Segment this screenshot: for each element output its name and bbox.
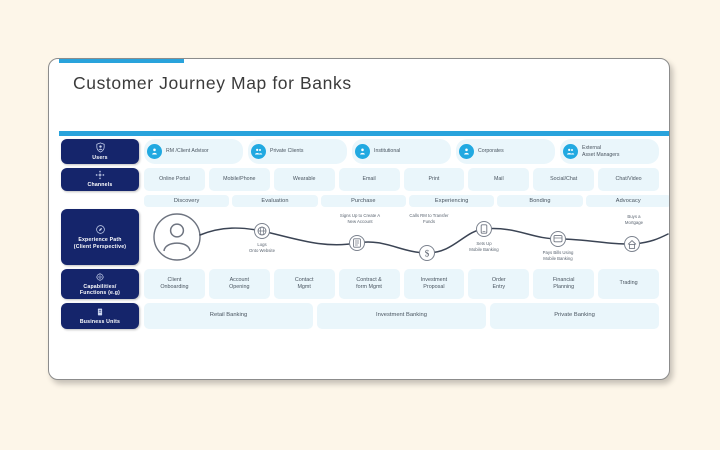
- capability-cell-investment-proposal[interactable]: Investment Proposal: [404, 269, 465, 299]
- customer-avatar-icon: [154, 214, 200, 260]
- header-divider-bar: [59, 131, 670, 136]
- capability-cell-order-entry[interactable]: Order Entry: [468, 269, 529, 299]
- user-chip-rm-client-advisor[interactable]: RM /Client Advisor: [144, 139, 243, 164]
- row-label-business-units[interactable]: Business Units: [61, 303, 139, 329]
- journey-stages-row: Discovery Evaluation Purchase Experienci…: [144, 195, 670, 207]
- channel-cell-online-portal[interactable]: Online Portal: [144, 168, 205, 191]
- journey-curve-svg: $: [144, 209, 670, 265]
- channel-cell-social-chat[interactable]: Social/Chat: [533, 168, 594, 191]
- capabilities-row: Capabilities/ Functions (e.g) Client Onb…: [61, 269, 659, 299]
- capability-cell-trading[interactable]: Trading: [598, 269, 659, 299]
- user-chip-label: Corporates: [478, 148, 504, 155]
- user-chip-external-asset-managers[interactable]: External Asset Managers: [560, 139, 659, 164]
- user-chip-institutional[interactable]: Institutional: [352, 139, 451, 164]
- row-label-capabilities[interactable]: Capabilities/ Functions (e.g): [61, 269, 139, 299]
- users-row: Users RM /Client Advisor: [61, 139, 659, 164]
- title-accent-bar: [59, 59, 184, 63]
- channel-cell-wearable[interactable]: Wearable: [274, 168, 335, 191]
- touchpoint-node-sets-up-mobile-banking: [477, 222, 492, 237]
- channel-cell-mail[interactable]: Mail: [468, 168, 529, 191]
- stage-discovery[interactable]: Discovery: [144, 195, 229, 207]
- people-icon: [251, 144, 266, 159]
- person-icon: [459, 144, 474, 159]
- user-chip-label: External Asset Managers: [582, 145, 619, 159]
- business-unit-cell-private-banking[interactable]: Private Banking: [490, 303, 659, 329]
- capability-cell-client-onboarding[interactable]: Client Onboarding: [144, 269, 205, 299]
- capability-cell-contact-mgmt[interactable]: Contact Mgmt: [274, 269, 335, 299]
- row-label-experience-path-text: Experience Path (Client Perspective): [74, 237, 126, 250]
- business-unit-cell-investment-banking[interactable]: Investment Banking: [317, 303, 486, 329]
- user-chip-corporates[interactable]: Corporates: [456, 139, 555, 164]
- channels-row: Channels Online Portal Mobile/Phone Wear…: [61, 168, 659, 191]
- gear-icon: [95, 272, 105, 282]
- user-chip-label: Institutional: [374, 148, 400, 155]
- touchpoint-node-signs-up-new-account: [350, 236, 365, 251]
- network-icon: [95, 170, 105, 180]
- row-label-channels-text: Channels: [88, 182, 113, 189]
- compass-icon: [95, 224, 106, 235]
- user-shield-icon: [95, 142, 106, 153]
- stage-bonding[interactable]: Bonding: [497, 195, 582, 207]
- channel-cell-chat-video[interactable]: Chat/Video: [598, 168, 659, 191]
- svg-text:$: $: [425, 248, 430, 258]
- channel-cell-email[interactable]: Email: [339, 168, 400, 191]
- touchpoint-node-calls-rm-transfer-funds: $: [420, 246, 435, 261]
- stage-evaluation[interactable]: Evaluation: [232, 195, 317, 207]
- people-icon: [563, 144, 578, 159]
- page-title: Customer Journey Map for Banks: [73, 73, 352, 94]
- row-label-business-units-text: Business Units: [80, 319, 120, 326]
- stage-purchase[interactable]: Purchase: [321, 195, 406, 207]
- touchpoint-label-calls-rm-transfer-funds: Calls RM to Transfer Funds: [409, 213, 448, 225]
- journey-matrix: Users RM /Client Advisor: [49, 139, 670, 380]
- touchpoint-label-logs-onto-website: Logs Onto Website: [249, 242, 275, 254]
- capabilities-cells: Client Onboarding Account Opening Contac…: [144, 269, 659, 299]
- users-cells: RM /Client Advisor Private Clients: [144, 139, 659, 164]
- stage-experiencing[interactable]: Experiencing: [409, 195, 494, 207]
- capability-cell-financial-planning[interactable]: Financial Planning: [533, 269, 594, 299]
- bank-icon: [95, 307, 105, 317]
- user-chip-label: Private Clients: [270, 148, 303, 155]
- touchpoint-label-signs-up-new-account: Signs Up to Create A New Account: [340, 213, 380, 225]
- business-units-cells: Retail Banking Investment Banking Privat…: [144, 303, 659, 329]
- channel-cell-print[interactable]: Print: [404, 168, 465, 191]
- stage-advocacy[interactable]: Advocacy: [586, 195, 670, 207]
- experience-path-row: Experience Path (Client Perspective): [61, 209, 659, 265]
- channel-cell-mobile-phone[interactable]: Mobile/Phone: [209, 168, 270, 191]
- user-chip-label: RM /Client Advisor: [166, 148, 209, 155]
- business-unit-cell-retail-banking[interactable]: Retail Banking: [144, 303, 313, 329]
- experience-path-canvas: $: [144, 209, 659, 265]
- touchpoint-node-buys-a-mortgage: [625, 237, 640, 252]
- person-icon: [147, 144, 162, 159]
- row-label-capabilities-text: Capabilities/ Functions (e.g): [80, 284, 120, 297]
- capability-cell-contract-form-mgmt[interactable]: Contract & form Mgmt: [339, 269, 400, 299]
- touchpoint-label-buys-a-mortgage: Buys a Mortgage: [625, 214, 643, 226]
- row-label-channels[interactable]: Channels: [61, 168, 139, 191]
- person-icon: [355, 144, 370, 159]
- channels-cells: Online Portal Mobile/Phone Wearable Emai…: [144, 168, 659, 191]
- touchpoint-label-pays-bills-mobile-banking: Pays Bills Using Mobile Banking: [543, 250, 574, 262]
- user-chip-private-clients[interactable]: Private Clients: [248, 139, 347, 164]
- business-units-row: Business Units Retail Banking Investment…: [61, 303, 659, 329]
- row-label-users-text: Users: [92, 155, 107, 162]
- touchpoint-label-sets-up-mobile-banking: Sets Up Mobile Banking: [469, 241, 498, 253]
- row-label-experience-path[interactable]: Experience Path (Client Perspective): [61, 209, 139, 265]
- touchpoint-node-logs-onto-website: [255, 224, 270, 239]
- slide-card: Customer Journey Map for Banks Users: [48, 58, 670, 380]
- touchpoint-node-pays-bills-mobile-banking: [551, 232, 566, 247]
- capability-cell-account-opening[interactable]: Account Opening: [209, 269, 270, 299]
- row-label-users[interactable]: Users: [61, 139, 139, 164]
